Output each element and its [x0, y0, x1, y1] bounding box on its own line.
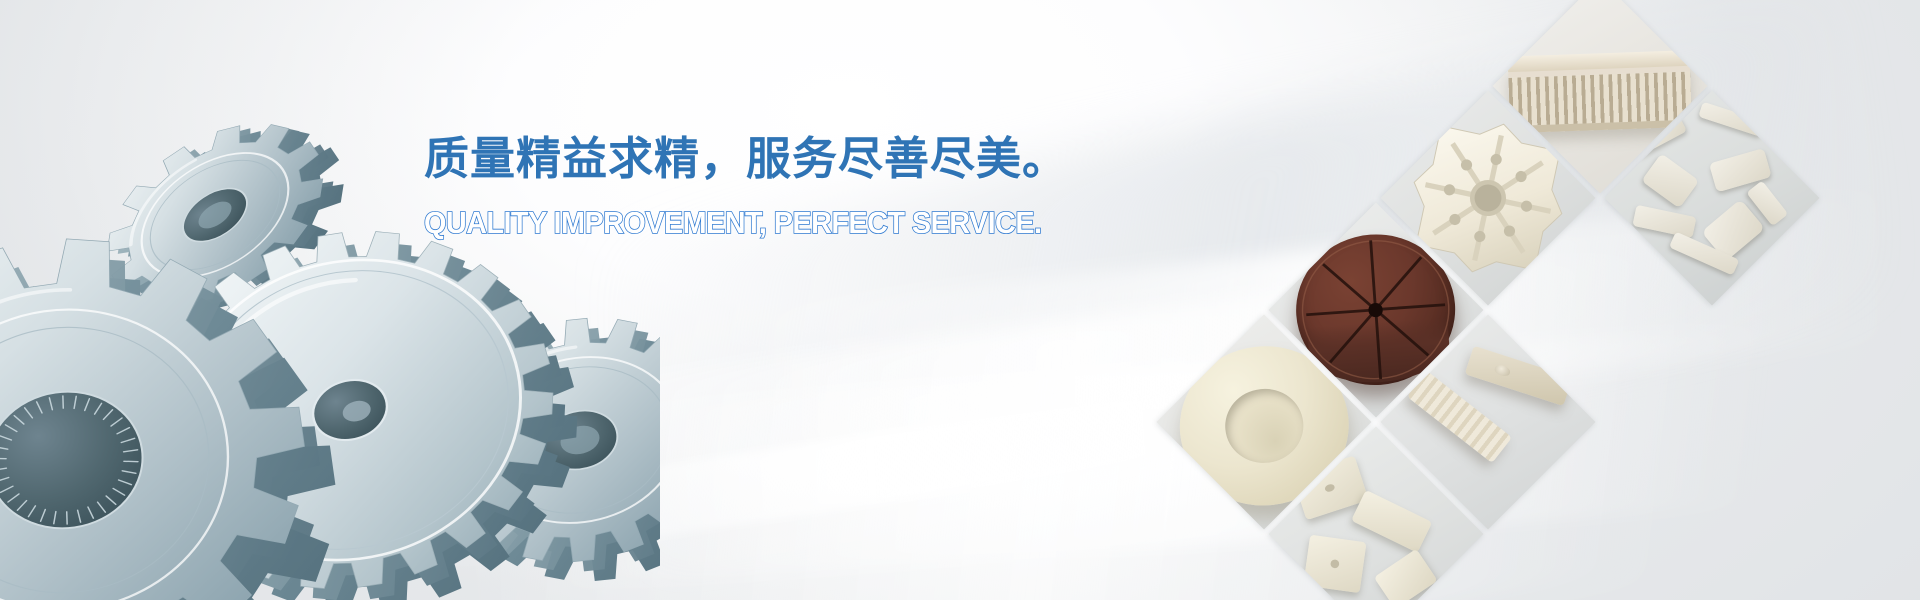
slogan-copy-block: 质量精益求精，服务尽善尽美。 QUALITY IMPROVEMENT, PERF…	[424, 132, 1104, 238]
quality-slogan-banner: 质量精益求精，服务尽善尽美。 QUALITY IMPROVEMENT, PERF…	[0, 0, 1920, 600]
product-photo-collage	[1110, 0, 1920, 600]
headline-chinese: 质量精益求精，服务尽善尽美。	[424, 132, 1104, 187]
gears-illustration	[0, 40, 660, 600]
grille-part	[1508, 61, 1691, 132]
subheadline-english: QUALITY IMPROVEMENT, PERFECT SERVICE.	[424, 207, 1056, 238]
